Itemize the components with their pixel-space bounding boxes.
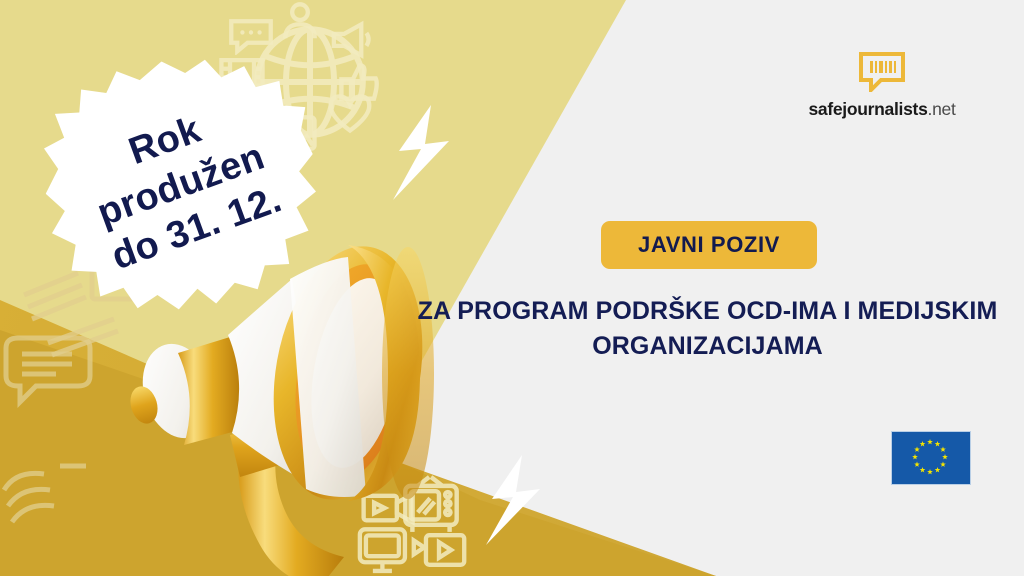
poster-canvas: Rok produžen do 31. 12. bbox=[0, 0, 1024, 576]
megaphone-icon bbox=[327, 19, 375, 59]
user-icon bbox=[278, 0, 322, 40]
page-title: ZA PROGRAM PODRŠKE OCD-IMA I MEDIJSKIM O… bbox=[405, 294, 1010, 363]
javni-poziv-badge[interactable]: JAVNI POZIV bbox=[601, 221, 817, 269]
eu-stars bbox=[892, 432, 968, 482]
logo-wordmark: safejournalists.net bbox=[808, 99, 955, 120]
safejournalists-logo[interactable]: safejournalists.net bbox=[806, 52, 958, 120]
lightning-bolt-icon bbox=[385, 105, 457, 200]
european-union-flag bbox=[891, 431, 971, 485]
lightning-bolt-icon bbox=[480, 455, 548, 545]
newspaper-icon bbox=[0, 460, 120, 570]
heart-icon bbox=[327, 92, 373, 134]
speech-bubble-barcode-icon bbox=[859, 52, 905, 92]
headline-line-1: ZA PROGRAM PODRŠKE OCD-IMA I MEDIJSKIM bbox=[405, 294, 1010, 329]
megaphone-illustration bbox=[120, 195, 480, 576]
headline-line-2: ORGANIZACIJAMA bbox=[405, 329, 1010, 364]
logo-text-main: safejournalists bbox=[808, 99, 927, 119]
javni-poziv-label: JAVNI POZIV bbox=[638, 232, 780, 258]
chat-bubble-icon bbox=[0, 330, 110, 420]
logo-text-tld: .net bbox=[928, 99, 956, 119]
